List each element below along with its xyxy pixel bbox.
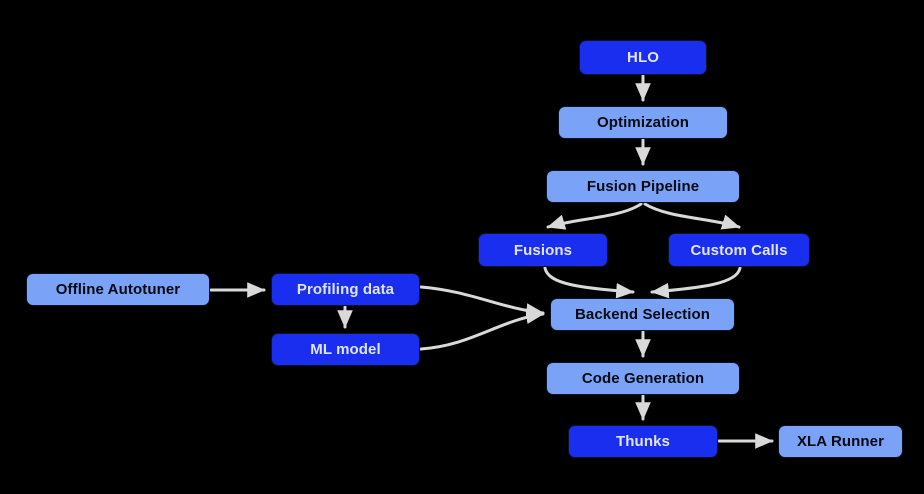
diagram-canvas: HLOOptimizationFusion PipelineFusionsCus… bbox=[0, 0, 924, 494]
node-fusion_pipeline[interactable]: Fusion Pipeline bbox=[546, 170, 740, 203]
node-hlo[interactable]: HLO bbox=[579, 40, 707, 75]
node-label-code_generation: Code Generation bbox=[582, 370, 704, 387]
node-custom_calls[interactable]: Custom Calls bbox=[668, 233, 810, 267]
node-label-fusions: Fusions bbox=[514, 242, 572, 259]
node-ml_model[interactable]: ML model bbox=[271, 333, 420, 366]
node-label-xla_runner: XLA Runner bbox=[797, 433, 884, 450]
edge-fusions-backend_selection bbox=[545, 268, 633, 292]
node-fusions[interactable]: Fusions bbox=[478, 233, 608, 267]
node-label-profiling_data: Profiling data bbox=[297, 281, 394, 298]
node-label-offline_autotuner: Offline Autotuner bbox=[56, 281, 180, 298]
node-xla_runner[interactable]: XLA Runner bbox=[778, 425, 903, 458]
edge-ml_model-backend_selection bbox=[421, 314, 543, 349]
node-code_generation[interactable]: Code Generation bbox=[546, 362, 740, 395]
node-label-hlo: HLO bbox=[627, 49, 659, 66]
edge-fusion_pipeline-custom_calls bbox=[645, 204, 739, 227]
node-label-custom_calls: Custom Calls bbox=[690, 242, 787, 259]
node-optimization[interactable]: Optimization bbox=[558, 106, 728, 139]
node-label-backend_selection: Backend Selection bbox=[575, 306, 710, 323]
node-label-optimization: Optimization bbox=[597, 114, 689, 131]
node-backend_selection[interactable]: Backend Selection bbox=[550, 298, 735, 331]
edge-profiling_data-backend_selection bbox=[421, 287, 543, 313]
node-thunks[interactable]: Thunks bbox=[568, 425, 718, 458]
edge-custom_calls-backend_selection bbox=[652, 268, 740, 292]
node-label-fusion_pipeline: Fusion Pipeline bbox=[587, 178, 699, 195]
node-profiling_data[interactable]: Profiling data bbox=[271, 273, 420, 306]
node-label-ml_model: ML model bbox=[310, 341, 381, 358]
edge-fusion_pipeline-fusions bbox=[548, 204, 641, 227]
node-offline_autotuner[interactable]: Offline Autotuner bbox=[26, 273, 210, 306]
node-label-thunks: Thunks bbox=[616, 433, 670, 450]
